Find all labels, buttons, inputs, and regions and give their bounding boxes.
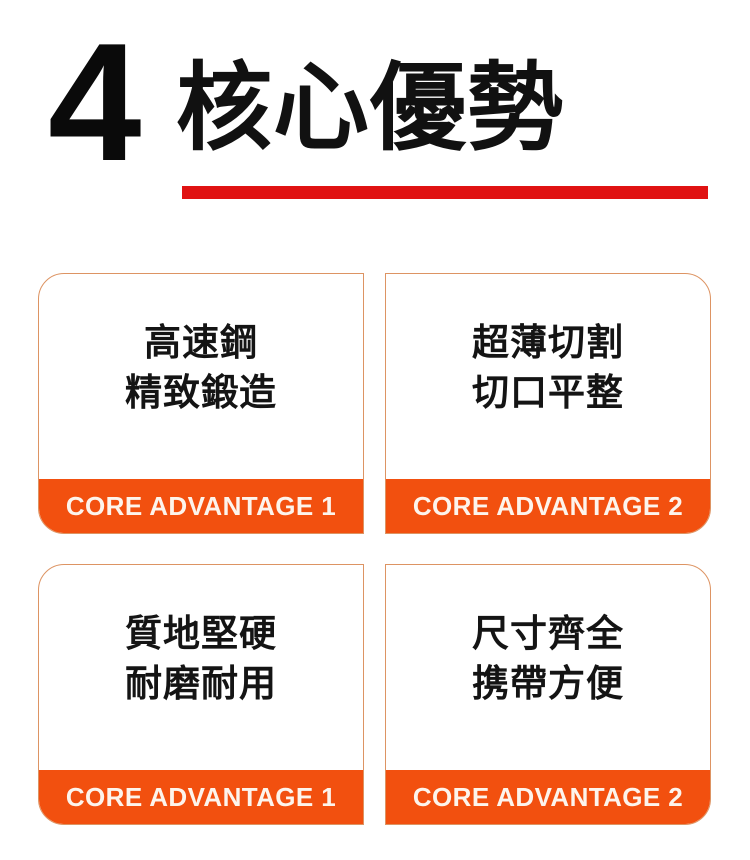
- advantage-card-4[interactable]: 尺寸齊全 携帶方便 CORE ADVANTAGE 2: [385, 564, 711, 825]
- advantage-card-1-line2: 精致鍛造: [125, 370, 277, 416]
- page-title: 核心優勢: [176, 56, 564, 160]
- advantage-card-4-banner: CORE ADVANTAGE 2: [386, 770, 710, 824]
- advantage-card-4-line2: 携帶方便: [472, 661, 624, 707]
- page-heading: 4 核心優勢: [0, 0, 750, 235]
- advantage-card-3-line1: 質地堅硬: [125, 611, 277, 657]
- advantage-card-2-text: 超薄切割 切口平整: [386, 274, 710, 479]
- infographic-page: 4 核心優勢 高速鋼 精致鍛造 CORE ADVANTAGE 1 超薄切割 切口…: [0, 0, 750, 860]
- advantage-card-3-line2: 耐磨耐用: [125, 661, 277, 707]
- advantage-card-4-text: 尺寸齊全 携帶方便: [386, 565, 710, 770]
- advantage-card-2-banner: CORE ADVANTAGE 2: [386, 479, 710, 533]
- advantage-card-1-text: 高速鋼 精致鍛造: [39, 274, 363, 479]
- advantage-card-3[interactable]: 質地堅硬 耐磨耐用 CORE ADVANTAGE 1: [38, 564, 364, 825]
- advantage-card-2-line1: 超薄切割: [472, 320, 624, 366]
- heading-number: 4: [48, 18, 137, 186]
- advantage-card-3-text: 質地堅硬 耐磨耐用: [39, 565, 363, 770]
- heading-underline-rule: [182, 186, 708, 199]
- advantage-card-1[interactable]: 高速鋼 精致鍛造 CORE ADVANTAGE 1: [38, 273, 364, 534]
- advantage-card-2-line2: 切口平整: [472, 370, 624, 416]
- advantage-card-grid: 高速鋼 精致鍛造 CORE ADVANTAGE 1 超薄切割 切口平整 CORE…: [38, 273, 711, 825]
- advantage-card-2[interactable]: 超薄切割 切口平整 CORE ADVANTAGE 2: [385, 273, 711, 534]
- advantage-card-1-line1: 高速鋼: [144, 320, 258, 366]
- advantage-card-3-banner: CORE ADVANTAGE 1: [39, 770, 363, 824]
- advantage-card-4-line1: 尺寸齊全: [472, 611, 624, 657]
- advantage-card-1-banner: CORE ADVANTAGE 1: [39, 479, 363, 533]
